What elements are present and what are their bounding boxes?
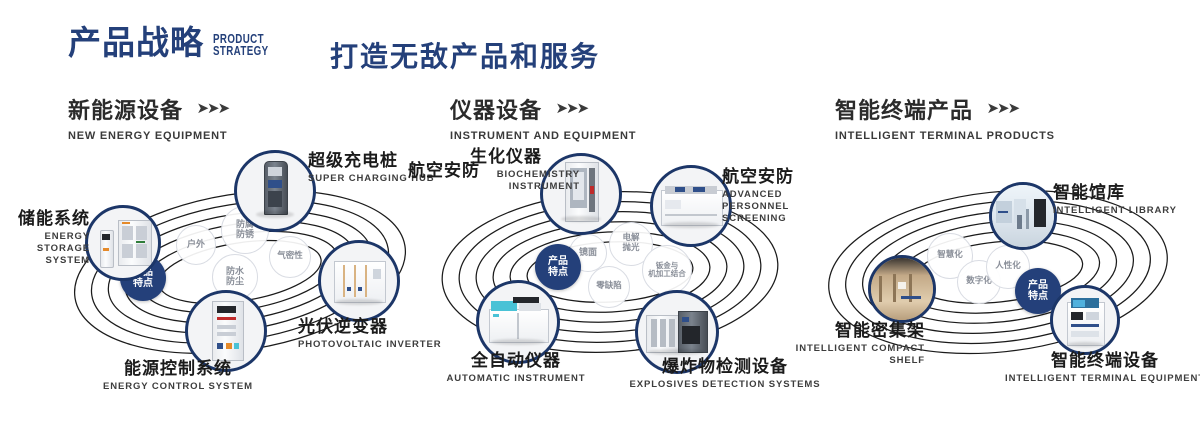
charging-hub-illustration (237, 153, 313, 229)
label-en: AUTOMATIC INSTRUMENT (428, 373, 604, 385)
page-title: 产品战略 (68, 26, 204, 59)
label-energy-storage-system: 储能系统 ENERGY STORAGE SYSTEM (6, 210, 90, 267)
section-title-cn: 智能终端产品 (835, 93, 973, 125)
section-title-new-energy: 新能源设备 ➤➤➤ NEW ENERGY EQUIPMENT (68, 93, 228, 142)
label-intelligent-library: 智能馆库 INTELLIGENT LIBRARY (1053, 184, 1193, 217)
cluster-new-energy: 户外 防腐 防锈 防水 防尘 气密性 产品 特点 储能系统 ENERGY STO… (40, 150, 440, 390)
label-biochemistry-instrument: 生化仪器 BIOCHEMISTRY INSTRUMENT (470, 148, 580, 193)
chevron-right-icon: ➤➤➤ (555, 99, 587, 117)
node-intelligent-terminal-equipment[interactable] (1050, 285, 1120, 355)
chevron-right-icon: ➤➤➤ (196, 99, 228, 117)
poster-header: 产品战略 PRODUCT STRATEGY (68, 26, 284, 59)
section-title-en: INTELLIGENT TERMINAL PRODUCTS (835, 130, 1055, 142)
terminal-equipment-illustration (1053, 288, 1117, 352)
poster-canvas: 产品战略 PRODUCT STRATEGY 打造无敌产品和服务 新能源设备 ➤➤… (0, 0, 1200, 422)
control-system-illustration (188, 293, 264, 369)
screening-illustration (653, 168, 729, 244)
page-slogan: 打造无敌产品和服务 (330, 35, 600, 75)
section-title-instrument: 仪器设备 ➤➤➤ INSTRUMENT AND EQUIPMENT (450, 93, 636, 142)
node-intelligent-library[interactable] (989, 182, 1057, 250)
node-photovoltaic-inverter[interactable] (318, 240, 400, 322)
intelligent-library-illustration (992, 185, 1054, 247)
label-en: BIOCHEMISTRY INSTRUMENT (470, 169, 580, 193)
section-title-cn: 新能源设备 (68, 93, 183, 125)
label-cn: 能源控制系统 (78, 360, 278, 379)
label-cn: 全自动仪器 (428, 352, 604, 371)
label-intelligent-compact-shelf: 智能密集架 INTELLIGENT COMPACT SHELF (735, 322, 925, 367)
feature-bubble-1: 户外 (176, 225, 216, 265)
label-cn: 智能密集架 (735, 322, 925, 341)
inverter-illustration (321, 243, 397, 319)
label-intelligent-terminal-equipment: 智能终端设备 INTELLIGENT TERMINAL EQUIPMENT (990, 352, 1200, 385)
node-super-charging-hub[interactable] (234, 150, 316, 232)
label-cn: 智能终端设备 (990, 352, 1200, 371)
compact-shelf-illustration (871, 258, 933, 320)
cluster-intelligent-terminal: 智慧化 数字化 人性化 产品 特点 智能馆库 INTELLIGENT LIBRA… (800, 150, 1200, 390)
label-en: INTELLIGENT TERMINAL EQUIPMENT (990, 373, 1200, 385)
label-automatic-instrument: 全自动仪器 AUTOMATIC INSTRUMENT (428, 352, 604, 385)
label-energy-control-system: 能源控制系统 ENERGY CONTROL SYSTEM (78, 360, 278, 393)
feature-bubble-3: 钣金与 机加工结合 (642, 245, 692, 295)
feature-bubble-4: 零缺陷 (588, 266, 630, 308)
section-title-en: INSTRUMENT AND EQUIPMENT (450, 130, 636, 142)
node-energy-storage-system[interactable] (85, 205, 161, 281)
label-cn: 生化仪器 (470, 148, 580, 167)
node-intelligent-compact-shelf[interactable] (868, 255, 936, 323)
feature-bubble-4: 气密性 (269, 236, 311, 278)
label-en: ENERGY STORAGE SYSTEM (6, 231, 90, 267)
automatic-instrument-illustration (479, 283, 557, 361)
label-cn: 智能馆库 (1053, 184, 1193, 203)
page-title-en: PRODUCT STRATEGY (213, 33, 268, 57)
chevron-right-icon: ➤➤➤ (986, 99, 1018, 117)
section-title-en: NEW ENERGY EQUIPMENT (68, 130, 228, 142)
node-advanced-personnel-screening[interactable] (650, 165, 732, 247)
label-en: ENERGY CONTROL SYSTEM (78, 381, 278, 393)
label-en: INTELLIGENT LIBRARY (1053, 205, 1193, 217)
label-cn: 储能系统 (6, 210, 90, 229)
section-title-cn: 仪器设备 (450, 93, 542, 125)
label-en: INTELLIGENT COMPACT SHELF (735, 343, 925, 367)
energy-storage-illustration (88, 208, 158, 278)
section-title-intelligent-terminal: 智能终端产品 ➤➤➤ INTELLIGENT TERMINAL PRODUCTS (835, 93, 1055, 142)
